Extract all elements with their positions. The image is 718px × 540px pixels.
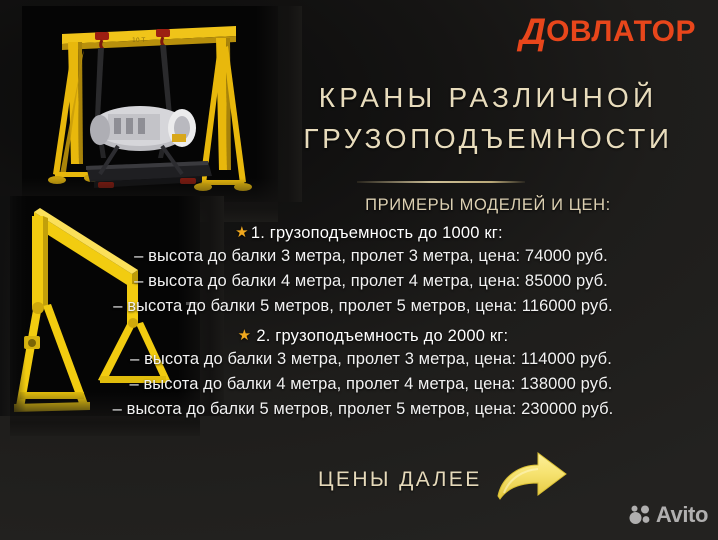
cta-block: ЦЕНЫ ДАЛЕЕ [318,452,568,508]
price-group-heading-text: 1. грузоподъемность до 1000 кг: [251,224,503,242]
price-group-heading-text: 2. грузоподъемность до 2000 кг: [256,327,508,345]
star-icon: ★ [238,327,252,344]
cta-label: ЦЕНЫ ДАЛЕЕ [318,468,482,492]
price-line: – высота до балки 5 метров, пролет 5 мет… [0,397,718,422]
page-title: КРАНЫ РАЗЛИЧНОЙ ГРУЗОПОДЪЕМНОСТИ [276,78,700,160]
price-line: – высота до балки 4 метра, пролет 4 метр… [0,269,718,294]
avito-wordmark: Avito [656,504,708,526]
title-divider [357,181,525,183]
logo-letter-d: Д [519,13,545,50]
avito-dots-icon [629,505,651,525]
gantry-crane-illustration: 10 T [22,6,278,202]
price-line: – высота до балки 5 метров, пролет 5 мет… [0,294,718,319]
headline-line-1: КРАНЫ РАЗЛИЧНОЙ [319,82,658,113]
price-line: – высота до балки 3 метра, пролет 3 метр… [0,347,718,372]
svg-text:10 T: 10 T [132,37,146,44]
brand-logo: Д ОВЛАТОР [519,12,696,52]
price-group-heading: ★2. грузоподъемность до 2000 кг: [0,325,718,347]
price-group-2: ★2. грузоподъемность до 2000 кг: – высот… [0,325,718,423]
gantry-crane-lifting-engine-photo: 10 T [22,6,278,202]
star-icon: ★ [235,224,249,241]
subtitle: ПРИМЕРЫ МОДЕЛЕЙ И ЦЕН: [276,196,700,215]
headline-line-2: ГРУЗОПОДЪЕМНОСТИ [276,119,700,160]
price-group-1: ★1. грузоподъемность до 1000 кг: – высот… [0,222,718,320]
price-line: – высота до балки 4 метра, пролет 4 метр… [0,372,718,397]
advertisement-banner: 10 T [0,0,718,540]
price-line: – высота до балки 3 метра, пролет 3 метр… [0,244,718,269]
curved-arrow-right-icon [496,448,568,504]
avito-watermark: Avito [629,504,708,526]
price-group-heading: ★1. грузоподъемность до 1000 кг: [0,222,718,244]
logo-wordmark: ОВЛАТОР [546,17,696,47]
